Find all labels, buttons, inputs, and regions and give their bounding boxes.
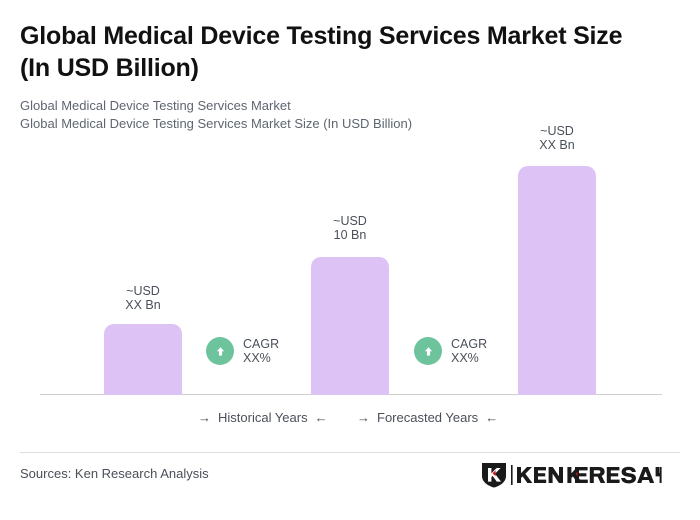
arrow-up-icon — [206, 337, 234, 365]
bar-chart-plot-area: ~USD XX Bn ~USD 10 Bn ~USD XX Bn CAGR XX… — [0, 0, 700, 400]
bar-1[interactable] — [104, 324, 182, 395]
bar-value-label-3-line-1: ~USD — [518, 124, 596, 138]
bar-3[interactable] — [518, 166, 596, 395]
cagr-annotation-1: CAGR XX% — [206, 337, 279, 365]
bar-value-label-1-line-1: ~USD — [104, 284, 182, 298]
arrow-left-icon: ← — [315, 410, 328, 426]
bar-value-label-3: ~USD XX Bn — [518, 124, 596, 152]
cagr-annotation-2-text: CAGR XX% — [451, 337, 487, 365]
bar-value-label-1: ~USD XX Bn — [104, 284, 182, 312]
bar-2[interactable] — [311, 257, 389, 395]
arrow-left-icon: ← — [485, 410, 498, 426]
footer-divider — [20, 452, 680, 453]
bar-value-label-2-line-2: 10 Bn — [311, 228, 389, 242]
period-label-historical: → Historical Years ← — [198, 410, 328, 426]
arrow-right-icon: → — [198, 410, 211, 426]
sources-text: Sources: Ken Research Analysis — [20, 466, 209, 482]
arrow-right-icon: → — [357, 410, 370, 426]
arrow-up-icon — [414, 337, 442, 365]
period-label-historical-text: Historical Years — [218, 410, 308, 426]
bar-value-label-2-line-1: ~USD — [311, 214, 389, 228]
period-label-forecasted-text: Forecasted Years — [377, 410, 478, 426]
cagr-annotation-1-line-1: CAGR — [243, 337, 279, 351]
cagr-annotation-2: CAGR XX% — [414, 337, 487, 365]
bar-value-label-2: ~USD 10 Bn — [311, 214, 389, 242]
bar-value-label-3-line-2: XX Bn — [518, 138, 596, 152]
cagr-annotation-1-text: CAGR XX% — [243, 337, 279, 365]
chart-canvas: Global Medical Device Testing Services M… — [0, 0, 700, 520]
cagr-annotation-2-line-1: CAGR — [451, 337, 487, 351]
ken-research-logo — [480, 462, 662, 488]
period-label-forecasted: → Forecasted Years ← — [357, 410, 498, 426]
cagr-annotation-1-line-2: XX% — [243, 351, 279, 365]
bar-value-label-1-line-2: XX Bn — [104, 298, 182, 312]
cagr-annotation-2-line-2: XX% — [451, 351, 487, 365]
